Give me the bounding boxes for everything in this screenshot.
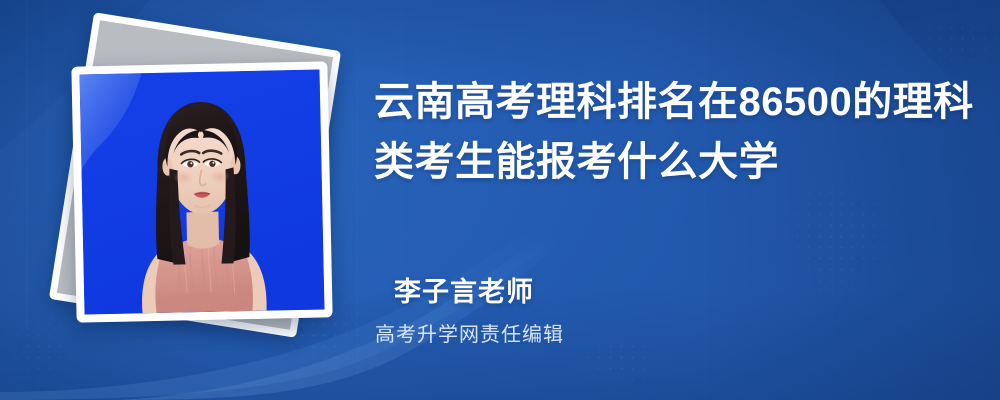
photo-card-front xyxy=(71,61,332,322)
author-role: 高考升学网责任编辑 xyxy=(375,318,564,347)
portrait-photo xyxy=(80,70,325,315)
page-title-line-2: 类考生能报考什么大学 xyxy=(374,132,954,192)
author-name: 李子言老师 xyxy=(394,270,534,309)
portrait-photo-stack xyxy=(46,34,346,334)
page-title: 云南高考理科排名在86500的理科 类考生能报考什么大学 xyxy=(374,72,954,192)
cover-text-block: 云南高考理科排名在86500的理科 类考生能报考什么大学 李子言老师 高考升学网… xyxy=(374,0,974,400)
article-cover-banner: 云南高考理科排名在86500的理科 类考生能报考什么大学 李子言老师 高考升学网… xyxy=(0,0,1000,400)
page-title-line-1: 云南高考理科排名在86500的理科 xyxy=(374,72,954,132)
